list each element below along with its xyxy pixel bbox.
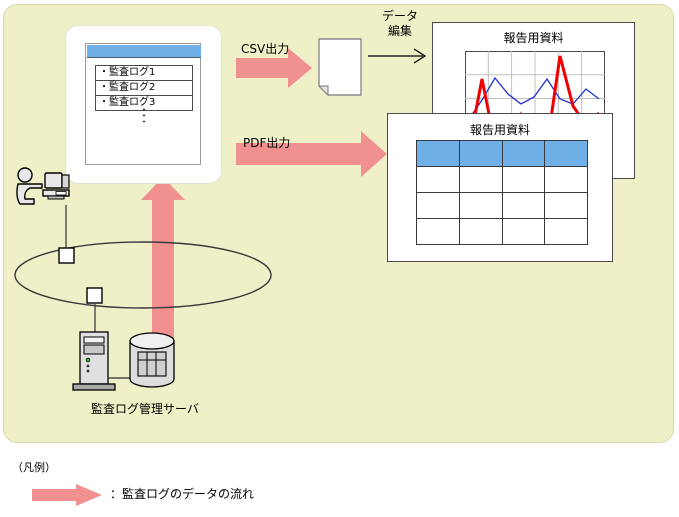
table-row [417,167,588,193]
table-cell [459,193,502,219]
table-header-cell [459,141,502,167]
list-continuation-ellipsis: ・ ・ ・ [95,108,193,126]
table-cell [417,219,460,245]
table-cell [417,167,460,193]
pdf-output-label: PDF出力 [243,134,290,151]
table-cell [502,193,545,219]
tower-server-icon [73,332,115,390]
table-row [417,193,588,219]
table-cell [459,219,502,245]
server-label: 監査ログ管理サーバ [25,400,265,417]
legend-arrow-icon [32,484,104,506]
audit-log-app-card[interactable]: ・監査ログ1 ・監査ログ2 ・監査ログ3 ・ ・ ・ [65,25,222,184]
table-cell [545,167,588,193]
ellipsis-dot: ・ [95,120,193,126]
audit-log-window[interactable]: ・監査ログ1 ・監査ログ2 ・監査ログ3 ・ ・ ・ [85,43,201,165]
audit-log-list[interactable]: ・監査ログ1 ・監査ログ2 ・監査ログ3 [95,65,193,111]
table-cell [502,167,545,193]
report-chart-title: 報告用資料 [433,29,634,46]
csv-output-label: CSV出力 [241,40,289,57]
table-cell [417,193,460,219]
table-cell [545,219,588,245]
legend-entry-text: ：監査ログのデータの流れ [110,485,254,502]
table-row [417,219,588,245]
table-header-row [417,141,588,167]
table-cell [502,219,545,245]
window-title-bar [87,45,201,58]
data-edit-label: データ 編集 [373,9,427,39]
report-table [416,140,588,245]
data-edit-label-line2: 編集 [373,24,427,39]
data-edit-label-line1: データ [373,9,427,24]
report-table-title: 報告用資料 [388,121,612,138]
report-table-document[interactable]: 報告用資料 [387,113,613,262]
table-header-cell [417,141,460,167]
list-item[interactable]: ・監査ログ1 [96,66,192,81]
legend-title: （凡例） [12,459,56,475]
table-cell [545,193,588,219]
table-header-cell [502,141,545,167]
table-header-cell [545,141,588,167]
list-item[interactable]: ・監査ログ2 [96,81,192,96]
data-edit-arrow-icon [367,47,429,65]
document-file-icon [318,38,362,96]
database-cylinder-icon [130,333,174,387]
diagram-canvas: ・監査ログ1 ・監査ログ2 ・監査ログ3 ・ ・ ・ [0,0,679,517]
table-cell [459,167,502,193]
audit-log-server-group [68,330,183,395]
